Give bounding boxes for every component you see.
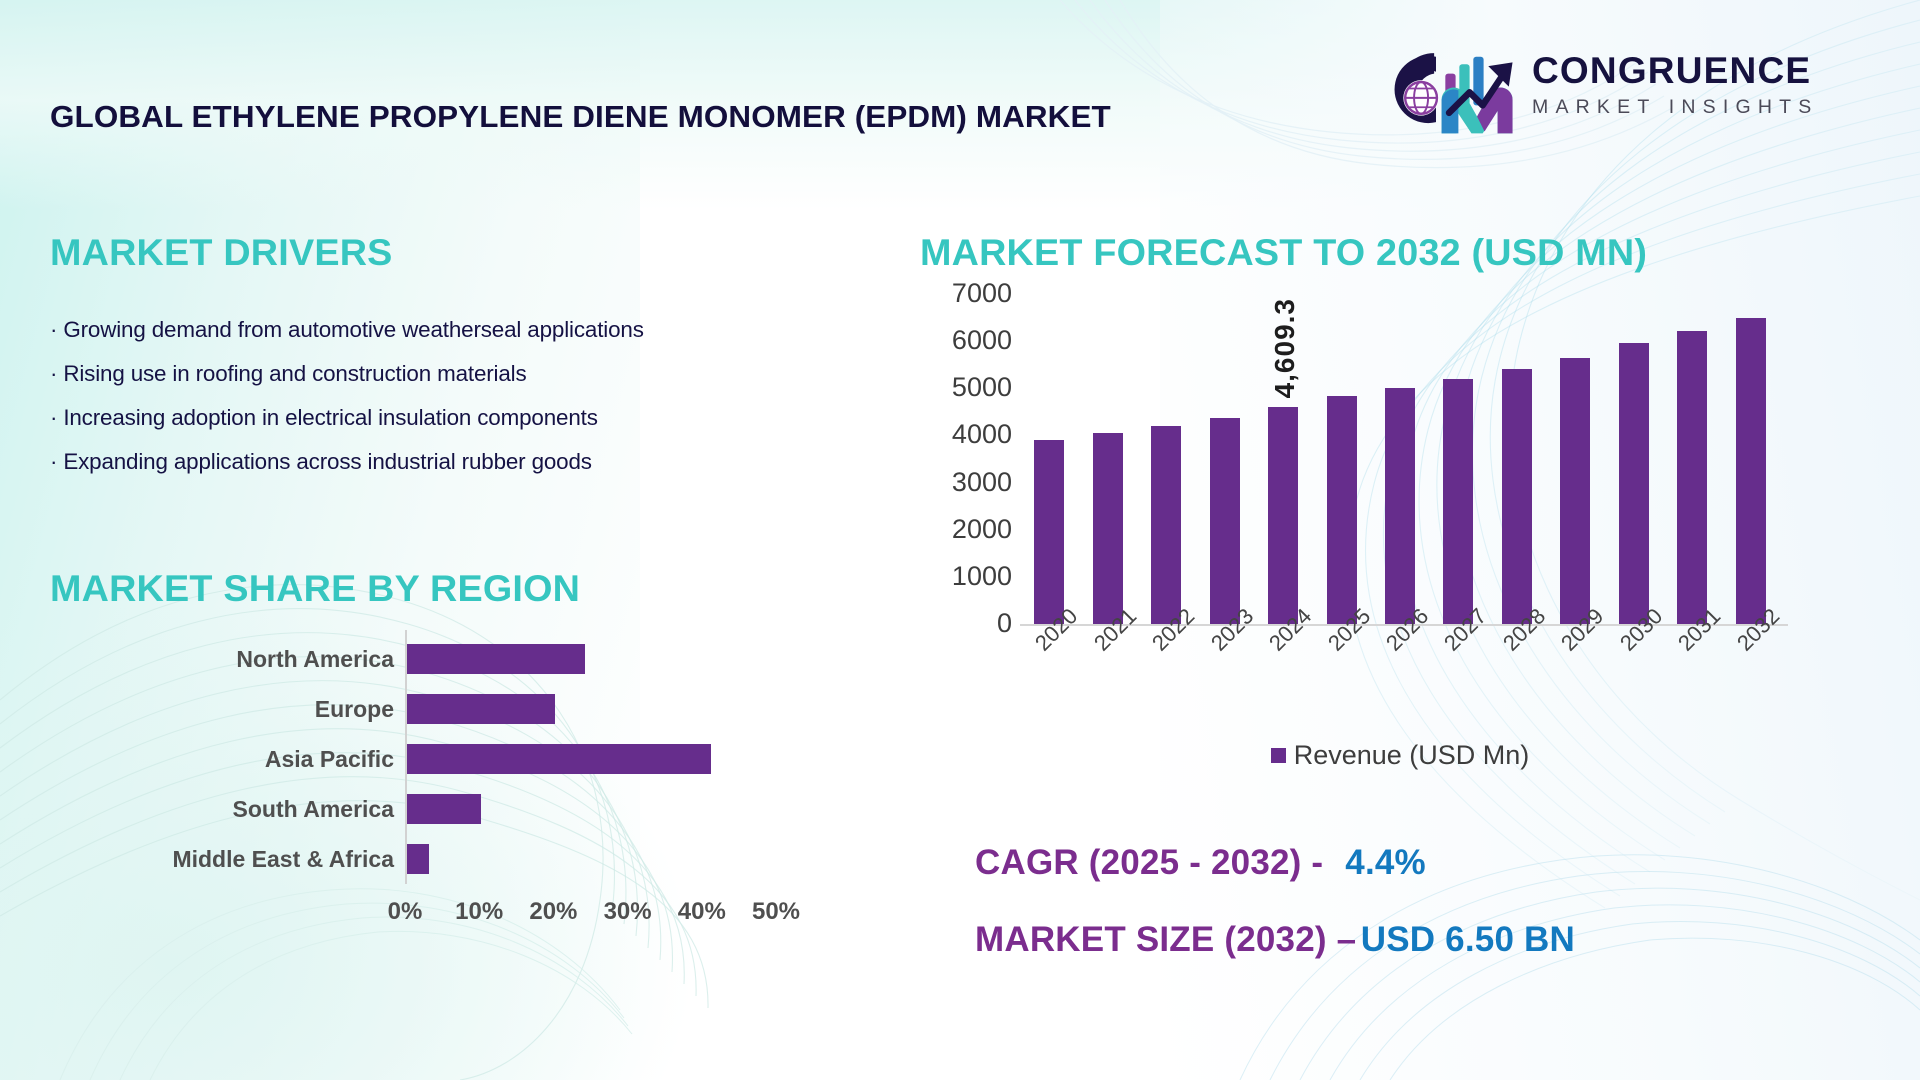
driver-item-label: Rising use in roofing and construction m… [63, 361, 526, 386]
logo-text: CONGRUENCE MARKET INSIGHTS [1532, 50, 1818, 120]
forecast-y-tick-label: 6000 [920, 325, 1012, 356]
cagr-stat: CAGR (2025 - 2032) -4.4% [975, 845, 1575, 882]
forecast-y-tick-label: 5000 [920, 372, 1012, 403]
region-x-tick-label: 40% [671, 898, 733, 926]
region-bar-row: Europe [50, 686, 850, 732]
region-bar [407, 644, 585, 674]
forecast-bar-chart: 01000200030004000500060007000 2020202120… [920, 294, 1880, 714]
forecast-bar [1268, 407, 1298, 624]
forecast-bar [1210, 418, 1240, 624]
region-x-tick-label: 30% [597, 898, 659, 926]
bullet-icon: · [50, 405, 57, 430]
market-size-stat: MARKET SIZE (2032) – USD 6.50 BN [975, 922, 1575, 959]
region-bar [407, 744, 711, 774]
forecast-y-tick-label: 7000 [920, 278, 1012, 309]
logo-company-name: CONGRUENCE [1532, 50, 1818, 92]
market-drivers-heading: MARKET DRIVERS [50, 232, 656, 274]
driver-item: ·Growing demand from automotive weathers… [50, 308, 644, 352]
region-label: Asia Pacific [50, 736, 410, 782]
forecast-bar [1151, 426, 1181, 624]
market-size-label: MARKET SIZE (2032) – [975, 920, 1356, 959]
forecast-bar-data-label: 4,609.3 [1269, 298, 1301, 398]
driver-item: ·Expanding applications across industria… [50, 440, 644, 484]
cagr-value: 4.4% [1345, 843, 1426, 882]
region-bar [407, 844, 429, 874]
forecast-bar [1677, 331, 1707, 624]
region-share-bar-chart: North AmericaEuropeAsia PacificSouth Ame… [50, 630, 850, 930]
region-label: Middle East & Africa [50, 836, 410, 882]
market-share-heading: MARKET SHARE BY REGION [50, 568, 866, 610]
forecast-chart-y-axis: 01000200030004000500060007000 [920, 294, 1012, 624]
region-x-tick-label: 10% [448, 898, 510, 926]
forecast-bar [1327, 396, 1357, 624]
region-x-tick-label: 50% [745, 898, 807, 926]
region-bar-row: South America [50, 786, 850, 832]
market-drivers-section: MARKET DRIVERS ·Growing demand from auto… [50, 232, 644, 484]
legend-label-revenue: Revenue (USD Mn) [1294, 740, 1530, 771]
forecast-y-tick-label: 0 [920, 608, 1012, 639]
bullet-icon: · [50, 361, 57, 386]
page-title: GLOBAL ETHYLENE PROPYLENE DIENE MONOMER … [50, 100, 1111, 135]
logo-tagline: MARKET INSIGHTS [1532, 94, 1818, 120]
forecast-bar [1443, 379, 1473, 624]
region-label: Europe [50, 686, 410, 732]
market-share-by-region-section: MARKET SHARE BY REGION North AmericaEuro… [50, 568, 850, 610]
region-bar [407, 694, 555, 724]
market-forecast-section: MARKET FORECAST TO 2032 (USD MN) 0100020… [920, 232, 1880, 274]
driver-item: ·Increasing adoption in electrical insul… [50, 396, 644, 440]
region-label: South America [50, 786, 410, 832]
forecast-bar [1502, 369, 1532, 625]
region-x-tick-label: 0% [374, 898, 436, 926]
forecast-y-tick-label: 1000 [920, 561, 1012, 592]
region-x-tick-label: 20% [522, 898, 584, 926]
region-bar-row: Asia Pacific [50, 736, 850, 782]
legend-swatch-revenue [1271, 748, 1286, 763]
forecast-bar [1560, 358, 1590, 624]
forecast-y-tick-label: 2000 [920, 514, 1012, 545]
driver-item-label: Increasing adoption in electrical insula… [63, 405, 597, 430]
forecast-y-tick-label: 3000 [920, 467, 1012, 498]
driver-item: ·Rising use in roofing and construction … [50, 352, 644, 396]
forecast-bar [1619, 343, 1649, 624]
bullet-icon: · [50, 317, 57, 342]
market-drivers-list: ·Growing demand from automotive weathers… [50, 308, 644, 484]
bullet-icon: · [50, 449, 57, 474]
header: GLOBAL ETHYLENE PROPYLENE DIENE MONOMER … [0, 0, 1920, 175]
logo-mark-cm-globe-icon [1380, 40, 1520, 138]
market-size-value: USD 6.50 BN [1361, 920, 1575, 959]
region-bar-row: North America [50, 636, 850, 682]
forecast-chart-legend: Revenue (USD Mn) [920, 740, 1880, 771]
forecast-chart-plot-area: 2020202120222023202420252026202720282029… [1020, 294, 1780, 624]
key-stats-section: CAGR (2025 - 2032) -4.4% MARKET SIZE (20… [975, 845, 1575, 959]
forecast-y-tick-label: 4000 [920, 419, 1012, 450]
region-label: North America [50, 636, 410, 682]
driver-item-label: Growing demand from automotive weatherse… [63, 317, 643, 342]
company-logo: CONGRUENCE MARKET INSIGHTS [1380, 40, 1880, 140]
region-bar [407, 794, 481, 824]
forecast-bar [1093, 433, 1123, 624]
market-forecast-heading: MARKET FORECAST TO 2032 (USD MN) [920, 232, 1899, 274]
cagr-label: CAGR (2025 - 2032) - [975, 843, 1323, 882]
region-chart-x-axis-ticks: 0%10%20%30%40%50% [360, 898, 820, 938]
forecast-bar [1736, 318, 1766, 624]
forecast-bar [1034, 440, 1064, 624]
region-bar-row: Middle East & Africa [50, 836, 850, 882]
driver-item-label: Expanding applications across industrial… [63, 449, 592, 474]
forecast-bar [1385, 388, 1415, 624]
